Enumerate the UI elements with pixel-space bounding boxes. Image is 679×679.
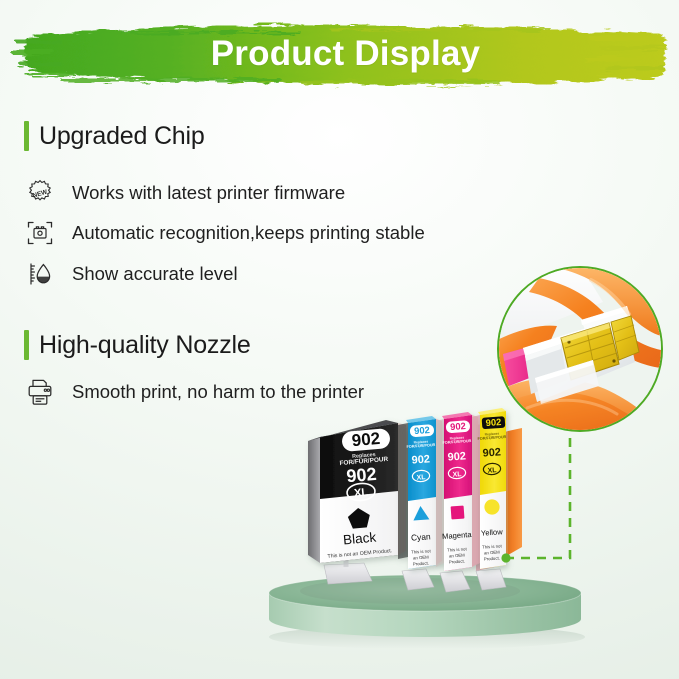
- cartridge-cyan: 902 Replaces FOR/FÜR/POUR 902 XL Cyan Th…: [398, 416, 442, 569]
- ink-level-droplet-icon: [25, 259, 55, 289]
- feature-row-ink-level: Show accurate level: [25, 259, 238, 289]
- section-heading-high-quality-nozzle: High-quality Nozzle: [24, 330, 251, 360]
- svg-text:902: 902: [411, 453, 430, 466]
- new-badge-icon: NEW: [25, 178, 55, 208]
- model-badge: 902: [410, 424, 435, 437]
- scan-chip-icon: [25, 218, 55, 248]
- svg-text:XL: XL: [416, 474, 426, 482]
- section-heading-upgraded-chip: Upgraded Chip: [24, 121, 205, 151]
- feature-text: Works with latest printer firmware: [72, 183, 345, 203]
- svg-text:Black: Black: [343, 530, 377, 548]
- chip-magnifier-circle: [497, 266, 663, 432]
- cartridge-black: 902 Replaces FOR/FÜR/POUR 902 XL Black T…: [308, 420, 406, 563]
- accent-bar: [24, 330, 29, 360]
- page-title: Product Display: [0, 14, 679, 94]
- accent-bar: [24, 121, 29, 151]
- svg-text:NEW: NEW: [32, 188, 49, 199]
- section-title: Upgraded Chip: [39, 124, 205, 149]
- printer-icon: [25, 377, 55, 407]
- callout-anchor-dot: [501, 553, 510, 562]
- feature-text: Automatic recognition,keeps printing sta…: [72, 223, 425, 243]
- svg-text:902: 902: [414, 424, 430, 436]
- section-title: High-quality Nozzle: [39, 333, 251, 358]
- header-banner: Product Display: [0, 14, 679, 94]
- callout-connector: [460, 420, 679, 590]
- svg-text:902: 902: [351, 429, 381, 450]
- svg-text:XL: XL: [354, 486, 369, 499]
- feature-row-firmware: NEW Works with latest printer firmware: [25, 178, 345, 208]
- feature-text: Show accurate level: [72, 264, 238, 284]
- svg-text:Cyan: Cyan: [411, 531, 432, 542]
- feature-row-recognition: Automatic recognition,keeps printing sta…: [25, 218, 425, 248]
